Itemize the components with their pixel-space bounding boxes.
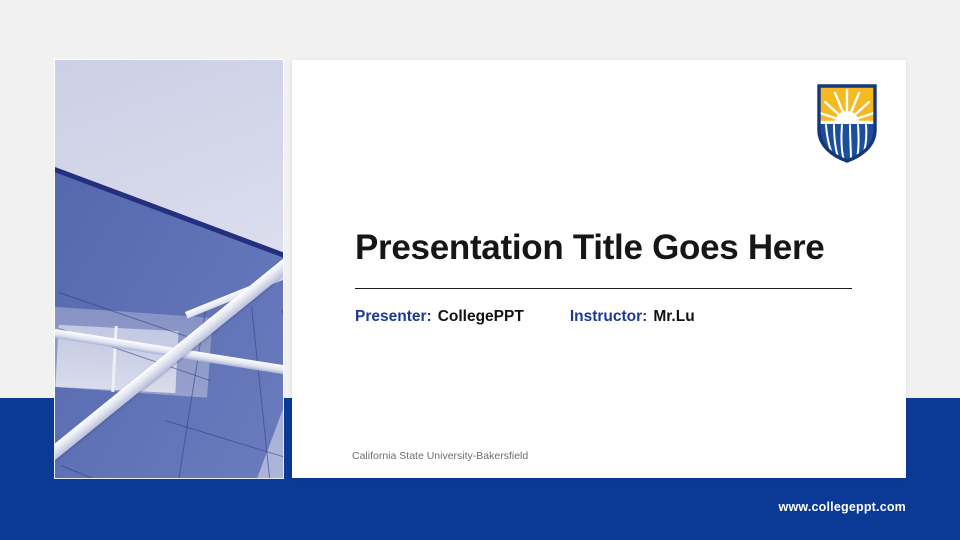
meta-row: Presenter: CollegePPT Instructor: Mr.Lu: [355, 308, 695, 326]
presenter-group: Presenter: CollegePPT: [355, 308, 524, 326]
content-card: Presentation Title Goes Here Presenter: …: [292, 60, 906, 478]
instructor-label: Instructor:: [570, 308, 648, 326]
university-name: California State University-Bakersfield: [352, 450, 528, 462]
csub-shield-logo: [814, 82, 880, 164]
title-divider: [355, 288, 852, 289]
instructor-value: Mr.Lu: [653, 308, 694, 326]
presenter-label: Presenter:: [355, 308, 432, 326]
page-title: Presentation Title Goes Here: [355, 228, 824, 268]
photo-inner: [55, 60, 283, 478]
presenter-value: CollegePPT: [438, 308, 524, 326]
instructor-group: Instructor: Mr.Lu: [570, 308, 695, 326]
presentation-slide: www.collegeppt.com: [0, 0, 960, 540]
architecture-photo: [55, 60, 283, 478]
website-url[interactable]: www.collegeppt.com: [779, 500, 906, 514]
